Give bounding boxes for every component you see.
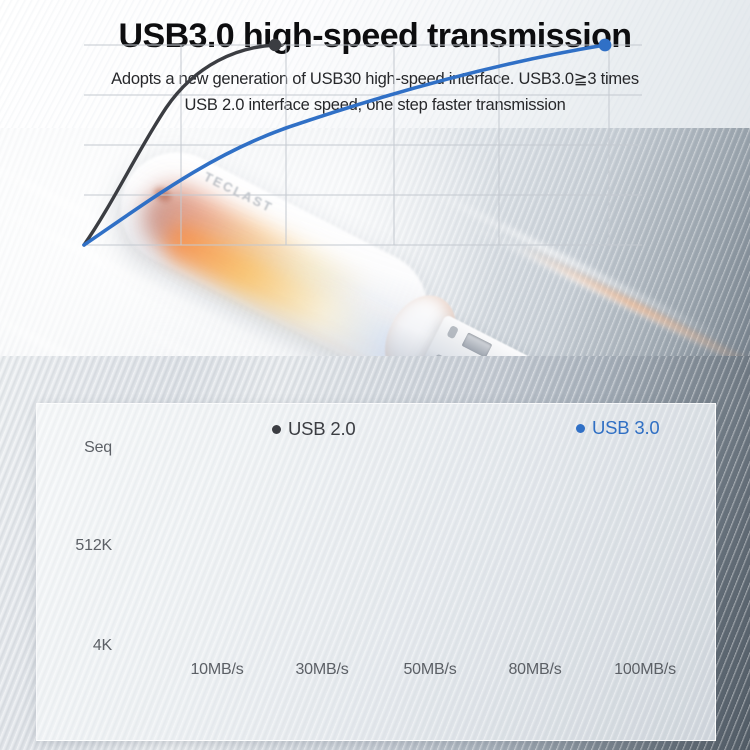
legend-item-usb2: USB 2.0 bbox=[272, 418, 356, 440]
chart-gridlines bbox=[84, 45, 642, 245]
speed-comparison-chart-card bbox=[36, 403, 716, 741]
legend-label-usb2: USB 2.0 bbox=[288, 418, 356, 440]
legend-label-usb3: USB 3.0 bbox=[592, 417, 660, 439]
product-detail-page: TECLAST USB3.0 high-speed transmission A… bbox=[0, 0, 750, 750]
x-axis-tick-100mbs: 100MB/s bbox=[590, 661, 700, 679]
y-axis-tick-512k: 512K bbox=[50, 537, 112, 555]
x-axis-tick-50mbs: 50MB/s bbox=[380, 661, 480, 679]
x-axis-tick-30mbs: 30MB/s bbox=[272, 661, 372, 679]
x-axis-tick-80mbs: 80MB/s bbox=[485, 661, 585, 679]
series-endpoint-usb3 bbox=[599, 39, 612, 52]
legend-dot-usb2-icon bbox=[272, 425, 281, 434]
legend-item-usb3: USB 3.0 bbox=[576, 417, 660, 439]
y-axis-tick-4k: 4K bbox=[60, 637, 112, 655]
series-endpoint-usb2 bbox=[269, 39, 281, 51]
x-axis-tick-10mbs: 10MB/s bbox=[167, 661, 267, 679]
y-axis-tick-seq: Seq bbox=[60, 439, 112, 457]
speed-comparison-chart: .gl-h, .gl-v { stroke: #c4c9d0; stroke-w… bbox=[0, 0, 678, 336]
legend-dot-usb3-icon bbox=[576, 424, 585, 433]
